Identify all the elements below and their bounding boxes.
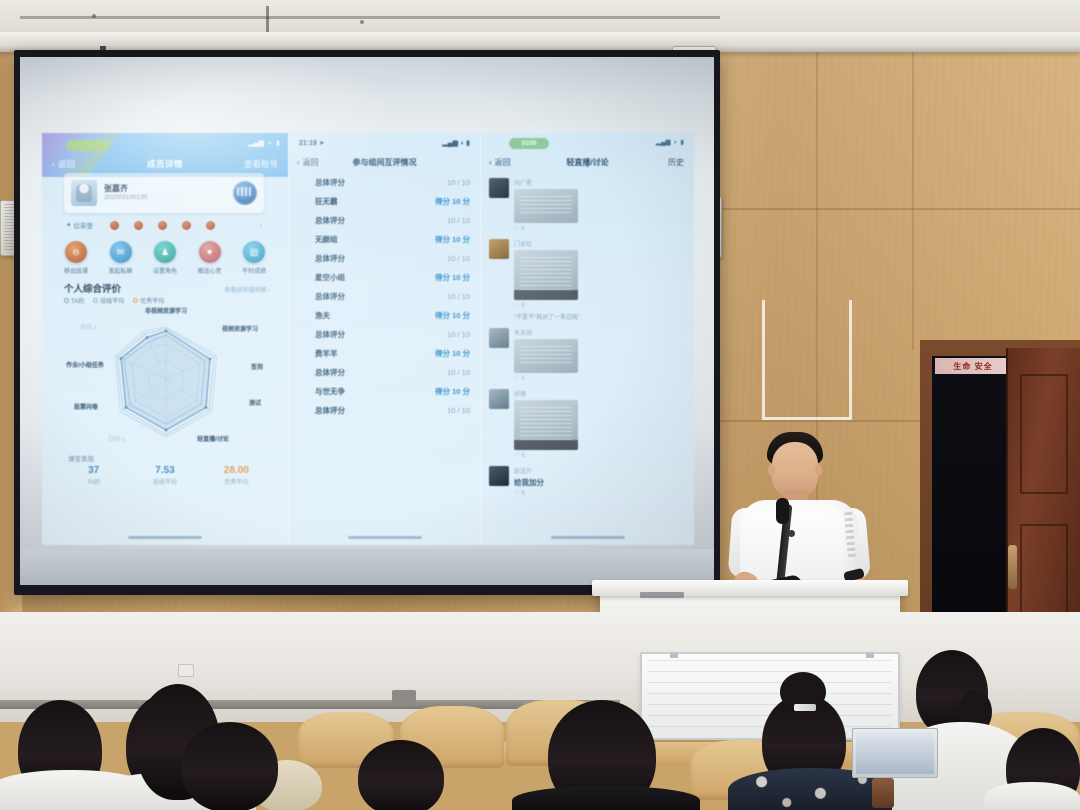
thumbs-up-icon: ♡ <box>514 302 519 309</box>
panel-member-detail: ▂▄▆ ◗ ▮ ‹ 返回 成员详情 查看账号 <box>42 133 288 545</box>
radar-label-2: 签到 <box>240 365 274 372</box>
image-band <box>514 440 578 450</box>
gift-icon: ♥ <box>199 241 221 263</box>
post-body: 朱永国 ♡ 6 <box>514 328 686 382</box>
status-bar-right: ▂▄▆ ◗ ▮ <box>656 138 684 146</box>
participation-badge: 31/30 <box>509 138 549 149</box>
list-row-total: 总体评分 10 / 10 <box>289 249 480 268</box>
whiteboard-clip <box>866 653 874 658</box>
wifi-icon: ◗ <box>268 140 272 147</box>
clock: 21:19 ➤ <box>299 139 325 147</box>
legend-item-mine[interactable]: TA的 <box>64 296 84 305</box>
list-item[interactable]: 邱锋 ♡ 6 <box>481 386 694 463</box>
legend-item-excellent-avg[interactable]: 优秀平均 <box>133 296 164 305</box>
row-value: 10 / 10 <box>447 330 470 339</box>
post-text: “不是不“我对了一条边啦” <box>514 312 686 321</box>
row-label: 星空小组 <box>315 272 345 283</box>
honor-label-wrap: ✦ 位荣誉 <box>66 220 106 230</box>
list-item[interactable]: 赵连升 给我加分 ♡ 6 <box>481 463 694 501</box>
status-icons: ▂▄▆ ◗ ▮ <box>442 139 470 147</box>
avatar <box>489 389 509 409</box>
post-body: 赵连升 给我加分 ♡ 6 <box>514 466 686 497</box>
list-row-score: 无颜组 得分 10 分 <box>289 230 480 249</box>
action-send-gift[interactable]: ♥ 赠送心意 <box>192 241 228 275</box>
list-row-total: 总体评分 10 / 10 <box>289 401 480 420</box>
whiteboard-clip <box>670 653 678 658</box>
avatar <box>71 180 97 206</box>
honor-dot <box>158 221 167 230</box>
legend-swatch <box>93 298 98 303</box>
home-indicator <box>551 536 625 539</box>
stat-class-avg: 7.53 班级平均 <box>129 465 200 486</box>
status-pill <box>66 140 110 151</box>
row-label: 总体评分 <box>315 367 345 378</box>
discussion-feed[interactable]: 向广星 ♡ 6 门金松 <box>481 175 694 501</box>
action-grades[interactable]: ▤ 平时成绩 <box>236 241 272 275</box>
row-label: 总体评分 <box>315 215 345 226</box>
projection-screen-frame: ▂▄▆ ◗ ▮ ‹ 返回 成员详情 查看账号 <box>14 50 720 595</box>
battery-icon: ▮ <box>680 138 684 146</box>
door-sign: 生命 安全 <box>935 358 1011 374</box>
legend-label: TA的 <box>71 296 84 305</box>
action-private-chat[interactable]: ✉ 发起私聊 <box>103 241 139 275</box>
chevron-left-icon: ‹ <box>52 159 55 169</box>
like-count: 6 <box>521 491 524 497</box>
home-indicator <box>348 536 422 539</box>
hair-clip <box>794 704 816 711</box>
row-value: 得分 10 分 <box>435 196 470 207</box>
ceiling-rail <box>20 16 720 19</box>
board-eraser <box>392 690 416 703</box>
row-value: 10 / 10 <box>447 178 470 187</box>
stats-row: 37 TA的 7.53 班级平均 28.00 优秀平均 <box>58 465 272 486</box>
post-author: 朱永国 <box>514 328 686 337</box>
row-label: 总体评分 <box>315 253 345 264</box>
signal-icon: ▂▄▆ <box>656 138 671 146</box>
post-image[interactable] <box>514 339 578 373</box>
microphone-head <box>776 498 789 524</box>
list-item[interactable]: 朱永国 ♡ 6 <box>481 325 694 386</box>
battery-icon: ▮ <box>466 140 470 147</box>
list-item[interactable]: 向广星 ♡ 6 <box>481 175 694 236</box>
action-label: 平时成绩 <box>236 266 272 275</box>
status-bar-left: ▂▄▆ ◗ ▮ <box>248 139 280 147</box>
like-count: 6 <box>521 453 524 459</box>
scene-root: ▂▄▆ ◗ ▮ ‹ 返回 成员详情 查看账号 <box>0 0 1080 810</box>
evaluation-title: 个人综合评价 <box>64 281 121 295</box>
honor-row[interactable]: ✦ 位荣誉 › <box>66 217 262 233</box>
radar-label-3: 测试 <box>238 401 272 408</box>
post-image[interactable] <box>514 189 578 223</box>
peer-review-list[interactable]: 总体评分 10 / 10 向广星 202003190137 <box>289 173 480 420</box>
stat-excellent-avg: 28.00 优秀平均 <box>201 465 272 486</box>
ceiling-fixture-dot <box>92 14 96 18</box>
legend-item-class-avg[interactable]: 班级平均 <box>93 296 124 305</box>
honor-dot <box>110 221 119 230</box>
projection-screen-surface: ▂▄▆ ◗ ▮ ‹ 返回 成员详情 查看账号 <box>20 57 714 585</box>
stat-label: TA的 <box>58 477 129 486</box>
chevron-left-icon: ‹ <box>489 158 492 167</box>
thumbs-up-icon: ♡ <box>514 452 519 459</box>
audience-head <box>182 722 278 810</box>
panel-peer-review: 21:19 ➤ ▂▄▆ ◗ ▮ ‹ 返回 <box>288 133 480 545</box>
laptop[interactable] <box>852 728 938 778</box>
stats-section-title: 课堂表现 <box>68 453 94 463</box>
radar-label-5: 投票问卷 <box>58 405 114 412</box>
list-row-score: 星空小组 得分 10 分 <box>289 268 480 287</box>
role-icon: ♟ <box>154 241 176 263</box>
wall-seam <box>720 208 1080 210</box>
remove-member-icon: ⊖ <box>65 241 87 263</box>
left-panel-topbar: ▂▄▆ ◗ ▮ ‹ 返回 成员详情 查看账号 <box>42 133 288 177</box>
mid-panel-nav: ‹ 返回 参与组间互评情况 <box>289 153 480 171</box>
chevron-right-icon[interactable]: › <box>260 222 262 229</box>
clock-time: 21:19 <box>299 140 317 147</box>
stat-label: 优秀平均 <box>201 477 272 486</box>
location-icon: ➤ <box>319 140 325 147</box>
post-author: 赵连升 <box>514 466 686 475</box>
legend-swatch <box>133 298 138 303</box>
list-row-score: 与世无争 得分 10 分 <box>289 382 480 401</box>
honor-dot <box>206 221 215 230</box>
left-panel-title: 成员详情 <box>147 158 183 170</box>
wall-outlet <box>178 664 194 677</box>
medal-icon: ✦ <box>66 221 71 229</box>
list-row-total: 总体评分 10 / 10 <box>289 287 480 306</box>
post-body: 门金松 ♡ 6 “不是不“我对了一条边啦” <box>514 239 686 321</box>
door-handle[interactable] <box>1008 545 1017 589</box>
like-row[interactable]: ♡ 6 <box>514 302 686 309</box>
chevron-down-icon[interactable]: ▾ <box>586 163 589 170</box>
student-profile-card[interactable]: 张嘉齐 202003100135 <box>64 173 264 213</box>
row-label: 总体评分 <box>315 291 345 302</box>
radar-label-0: 非视频资源学习 <box>120 309 212 316</box>
avatar <box>489 178 509 198</box>
honor-badge-icon <box>233 181 257 205</box>
row-label: 狂无霸 <box>315 196 338 207</box>
list-row-total: 总体评分 10 / 10 <box>289 363 480 382</box>
student-id: 202003100135 <box>104 194 226 202</box>
drink-cup <box>872 778 894 808</box>
radar-label-4: 轻直播/讨论 <box>170 437 256 444</box>
honor-label: 位荣誉 <box>73 220 93 230</box>
presenter-ear-left <box>768 464 775 476</box>
action-label: 赠送心意 <box>192 266 228 275</box>
legend-label: 班级平均 <box>100 296 124 305</box>
home-indicator <box>128 536 202 539</box>
radar-chart: 非视频资源学习 视频资源学习 签到 测试 轻直播/讨论 投票问卷 作业/小组任务… <box>52 309 280 453</box>
honor-dot <box>182 221 191 230</box>
stat-value: 28.00 <box>201 465 272 476</box>
audience-head <box>358 740 444 810</box>
stat-value: 7.53 <box>129 465 200 476</box>
radar-note-0: 月均 ≥ <box>80 325 97 332</box>
row-label: 无颜组 <box>315 234 338 245</box>
row-label: 总体评分 <box>315 177 345 188</box>
thumbs-up-icon: ♡ <box>514 375 519 382</box>
action-icon-row: ⊖ 移出班课 ✉ 发起私聊 ♟ 设置角色 ♥ 赠 <box>58 241 272 275</box>
grade-icon: ▤ <box>243 241 265 263</box>
projected-app-ui: ▂▄▆ ◗ ▮ ‹ 返回 成员详情 查看账号 <box>42 133 694 545</box>
student-name: 张嘉齐 <box>104 184 226 194</box>
like-row[interactable]: ♡ 6 <box>514 490 686 497</box>
honor-dot <box>134 221 143 230</box>
stat-value: 37 <box>58 465 129 476</box>
post-body: 向广星 ♡ 6 <box>514 178 686 232</box>
status-bar-mid: 21:19 ➤ ▂▄▆ ◗ ▮ <box>289 137 480 149</box>
back-label: 返回 <box>495 157 511 168</box>
avatar <box>489 239 509 259</box>
thumbs-up-icon: ♡ <box>514 490 519 497</box>
podium-label-plate <box>640 592 684 598</box>
row-value: 10 / 10 <box>447 406 470 415</box>
row-value: 10 / 10 <box>447 292 470 301</box>
presenter-ear-right <box>815 464 822 476</box>
audience-shoulders <box>512 786 700 810</box>
list-row-total: 总体评分 10 / 10 <box>289 173 480 192</box>
avatar <box>489 328 509 348</box>
stat-mine: 37 TA的 <box>58 465 129 486</box>
row-label: 渔夫 <box>315 310 330 321</box>
row-label: 费羊羊 <box>315 348 338 359</box>
radar-note-1: 日均 ≥ <box>108 437 125 444</box>
post-image[interactable] <box>514 250 578 300</box>
battery-icon: ▮ <box>276 139 280 147</box>
stat-label: 班级平均 <box>129 477 200 486</box>
row-label: 总体评分 <box>315 329 345 340</box>
action-label: 设置角色 <box>147 266 183 275</box>
like-count: 6 <box>521 376 524 382</box>
ceiling-fixture-dot <box>360 20 364 24</box>
back-button-right[interactable]: ‹ 返回 <box>489 157 511 168</box>
list-row-score: 渔夫 得分 10 分 <box>289 306 480 325</box>
radar-label-1: 视频资源学习 <box>202 327 278 334</box>
profile-names: 张嘉齐 202003100135 <box>104 184 226 202</box>
experience-detail-link[interactable]: 查看经验值明细 › <box>224 285 270 294</box>
mid-panel-title: 参与组间互评情况 <box>353 157 417 168</box>
thumbs-up-icon: ♡ <box>514 225 519 232</box>
post-author: 邱锋 <box>514 389 686 398</box>
row-value: 10 / 10 <box>447 368 470 377</box>
speaker-grill <box>4 204 14 252</box>
chat-icon: ✉ <box>110 241 132 263</box>
post-author: 向广星 <box>514 178 686 187</box>
radar-label-6: 作业/小组任务 <box>58 363 112 370</box>
like-count: 6 <box>521 226 524 232</box>
audience-shoulders <box>984 782 1080 810</box>
view-account-button[interactable]: 查看账号 <box>244 158 278 170</box>
post-caption: 给我加分 <box>514 477 686 488</box>
wifi-icon: ◗ <box>460 140 464 147</box>
ceiling-beam <box>0 32 1080 52</box>
back-button-mid[interactable]: ‹ 返回 <box>297 157 319 168</box>
history-button[interactable]: 历史 <box>668 157 684 168</box>
image-band <box>514 290 578 300</box>
radar-series-mine <box>121 331 210 430</box>
back-label: 返回 <box>303 157 319 168</box>
row-value: 得分 10 分 <box>435 348 470 359</box>
back-button-left[interactable]: ‹ 返回 <box>52 158 75 170</box>
list-item[interactable]: 门金松 ♡ 6 “不是不“我对了一条边啦” <box>481 236 694 325</box>
row-value: 得分 10 分 <box>435 272 470 283</box>
post-author: 门金松 <box>514 239 686 248</box>
like-row[interactable]: ♡ 6 <box>514 452 686 459</box>
laptop-screen <box>856 732 934 774</box>
list-row-score: 费羊羊 得分 10 分 <box>289 344 480 363</box>
action-label: 发起私聊 <box>103 266 139 275</box>
legend-swatch <box>64 298 69 303</box>
list-row-total: 总体评分 10 / 10 <box>289 211 480 230</box>
honor-dots <box>110 221 215 230</box>
signal-icon: ▂▄▆ <box>248 139 264 147</box>
wifi-icon: ◗ <box>673 139 677 146</box>
row-value: 10 / 10 <box>447 254 470 263</box>
radar-legend: TA的 班级平均 优秀平均 <box>64 296 164 305</box>
post-image[interactable] <box>514 400 578 450</box>
avatar <box>489 466 509 486</box>
signal-icon: ▂▄▆ <box>442 140 458 147</box>
action-label: 移出班课 <box>58 266 94 275</box>
wall-panel-line <box>912 50 914 350</box>
row-value: 得分 10 分 <box>435 310 470 321</box>
row-label: 与世无争 <box>315 386 345 397</box>
chevron-left-icon: ‹ <box>297 158 300 167</box>
row-label: 总体评分 <box>315 405 345 416</box>
back-label: 返回 <box>58 158 75 170</box>
post-body: 邱锋 ♡ 6 <box>514 389 686 459</box>
row-value: 得分 10 分 <box>435 234 470 245</box>
door-sign-text: 生命 安全 <box>953 361 992 372</box>
like-count: 6 <box>521 303 524 309</box>
list-row-score: 狂无霸 得分 10 分 <box>289 192 480 211</box>
left-panel-nav: ‹ 返回 成员详情 查看账号 <box>42 153 288 175</box>
row-value: 10 / 10 <box>447 216 470 225</box>
like-row[interactable]: ♡ 6 <box>514 375 686 382</box>
door-panel <box>1020 374 1068 494</box>
legend-label: 优秀平均 <box>140 296 164 305</box>
evaluation-header: 个人综合评价 查看经验值明细 › <box>64 281 270 295</box>
list-row-total: 总体评分 10 / 10 <box>289 325 480 344</box>
panel-live-discussion: 31/30 ▂▄▆ ◗ ▮ ‹ 返回 轻直播/讨论 历史 ▾ <box>480 133 694 545</box>
action-remove-member[interactable]: ⊖ 移出班课 <box>58 241 94 275</box>
like-row[interactable]: ♡ 6 <box>514 225 686 232</box>
row-value: 得分 10 分 <box>435 386 470 397</box>
action-set-role[interactable]: ♟ 设置角色 <box>147 241 183 275</box>
wall-goal-marking <box>762 300 852 420</box>
